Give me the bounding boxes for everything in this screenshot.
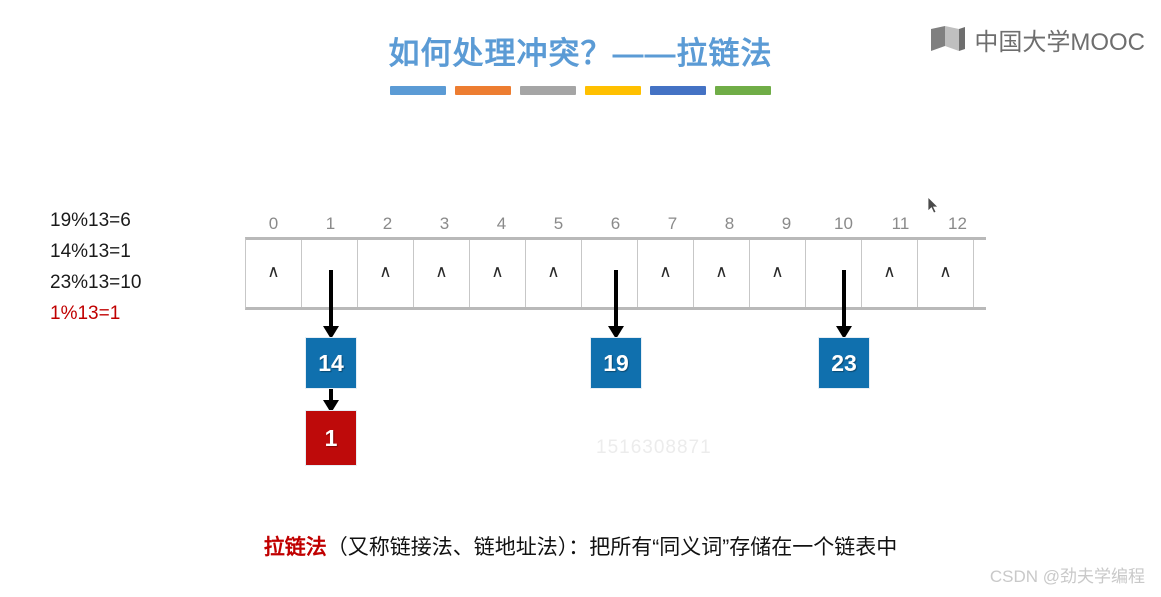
center-watermark: 1516308871	[596, 437, 712, 459]
index-label-8: 8	[701, 211, 758, 237]
index-label-7: 7	[644, 211, 701, 237]
modulo-item-2: 23%13=10	[50, 267, 141, 298]
chain-link-line-bucket-1	[329, 270, 333, 330]
bar-blue-light	[390, 86, 446, 95]
chain-node-23[interactable]: 23	[818, 337, 870, 389]
bar-green	[715, 86, 771, 95]
csdn-watermark: CSDN @劲夫学编程	[990, 562, 1145, 587]
chain-link-line-bucket-10	[842, 270, 846, 330]
null-marker: ∧	[918, 262, 973, 282]
bar-blue-dark	[650, 86, 706, 95]
modulo-item-1: 14%13=1	[50, 236, 141, 267]
bar-gray	[520, 86, 576, 95]
hash-bucket-3[interactable]: ∧	[414, 240, 470, 307]
null-marker: ∧	[526, 262, 581, 282]
bar-yellow	[585, 86, 641, 95]
index-label-10: 10	[815, 211, 872, 237]
hash-bucket-6[interactable]	[582, 240, 638, 307]
hash-bucket-10[interactable]	[806, 240, 862, 307]
index-label-1: 1	[302, 211, 359, 237]
chain-node-label: 1	[325, 425, 338, 452]
chain-node-label: 23	[831, 350, 857, 377]
modulo-item-3: 1%13=1	[50, 298, 141, 329]
null-marker: ∧	[694, 262, 749, 282]
chain-link-line-bucket-6	[614, 270, 618, 330]
caption-text: 拉链法（又称链接法、链地址法）：把所有“同义词”存储在一个链表中	[0, 531, 1161, 561]
null-marker: ∧	[638, 262, 693, 282]
book-mark-icon	[929, 25, 967, 55]
index-label-0: 0	[245, 211, 302, 237]
index-label-11: 11	[872, 211, 929, 237]
hash-bucket-5[interactable]: ∧	[526, 240, 582, 307]
modulo-expression-list: 19%13=6 14%13=1 23%13=10 1%13=1	[50, 205, 141, 329]
chain-node-14[interactable]: 14	[305, 337, 357, 389]
hash-bucket-12[interactable]: ∧	[918, 240, 974, 307]
caption-term: 拉链法	[264, 536, 327, 559]
null-marker: ∧	[750, 262, 805, 282]
hash-bucket-11[interactable]: ∧	[862, 240, 918, 307]
index-label-5: 5	[530, 211, 587, 237]
index-label-9: 9	[758, 211, 815, 237]
hash-bucket-2[interactable]: ∧	[358, 240, 414, 307]
null-marker: ∧	[358, 262, 413, 282]
null-marker: ∧	[246, 262, 301, 282]
caption-rest: （又称链接法、链地址法）：把所有“同义词”存储在一个链表中	[327, 536, 897, 559]
chain-node-label: 19	[603, 350, 629, 377]
null-marker: ∧	[414, 262, 469, 282]
modulo-item-0: 19%13=6	[50, 205, 141, 236]
hash-bucket-7[interactable]: ∧	[638, 240, 694, 307]
mooc-logo-text: 中国大学MOOC	[974, 22, 1145, 57]
null-marker: ∧	[470, 262, 525, 282]
bar-orange	[455, 86, 511, 95]
hash-bucket-4[interactable]: ∧	[470, 240, 526, 307]
hash-bucket-0[interactable]: ∧	[246, 240, 302, 307]
chain-node-1[interactable]: 1	[305, 410, 357, 466]
title-accent-bars	[0, 86, 1161, 95]
index-label-2: 2	[359, 211, 416, 237]
mooc-logo: 中国大学MOOC	[929, 22, 1145, 57]
mouse-cursor-icon	[928, 197, 940, 215]
null-marker: ∧	[862, 262, 917, 282]
hash-bucket-8[interactable]: ∧	[694, 240, 750, 307]
index-label-6: 6	[587, 211, 644, 237]
index-label-4: 4	[473, 211, 530, 237]
hash-bucket-9[interactable]: ∧	[750, 240, 806, 307]
slide-canvas: 如何处理冲突？——拉链法 中国大学MOOC 19%13=6 14%13=1 23…	[0, 0, 1161, 597]
index-label-row: 0 1 2 3 4 5 6 7 8 9 10 11 12	[245, 211, 986, 237]
index-label-3: 3	[416, 211, 473, 237]
chain-node-19[interactable]: 19	[590, 337, 642, 389]
chain-node-label: 14	[318, 350, 344, 377]
